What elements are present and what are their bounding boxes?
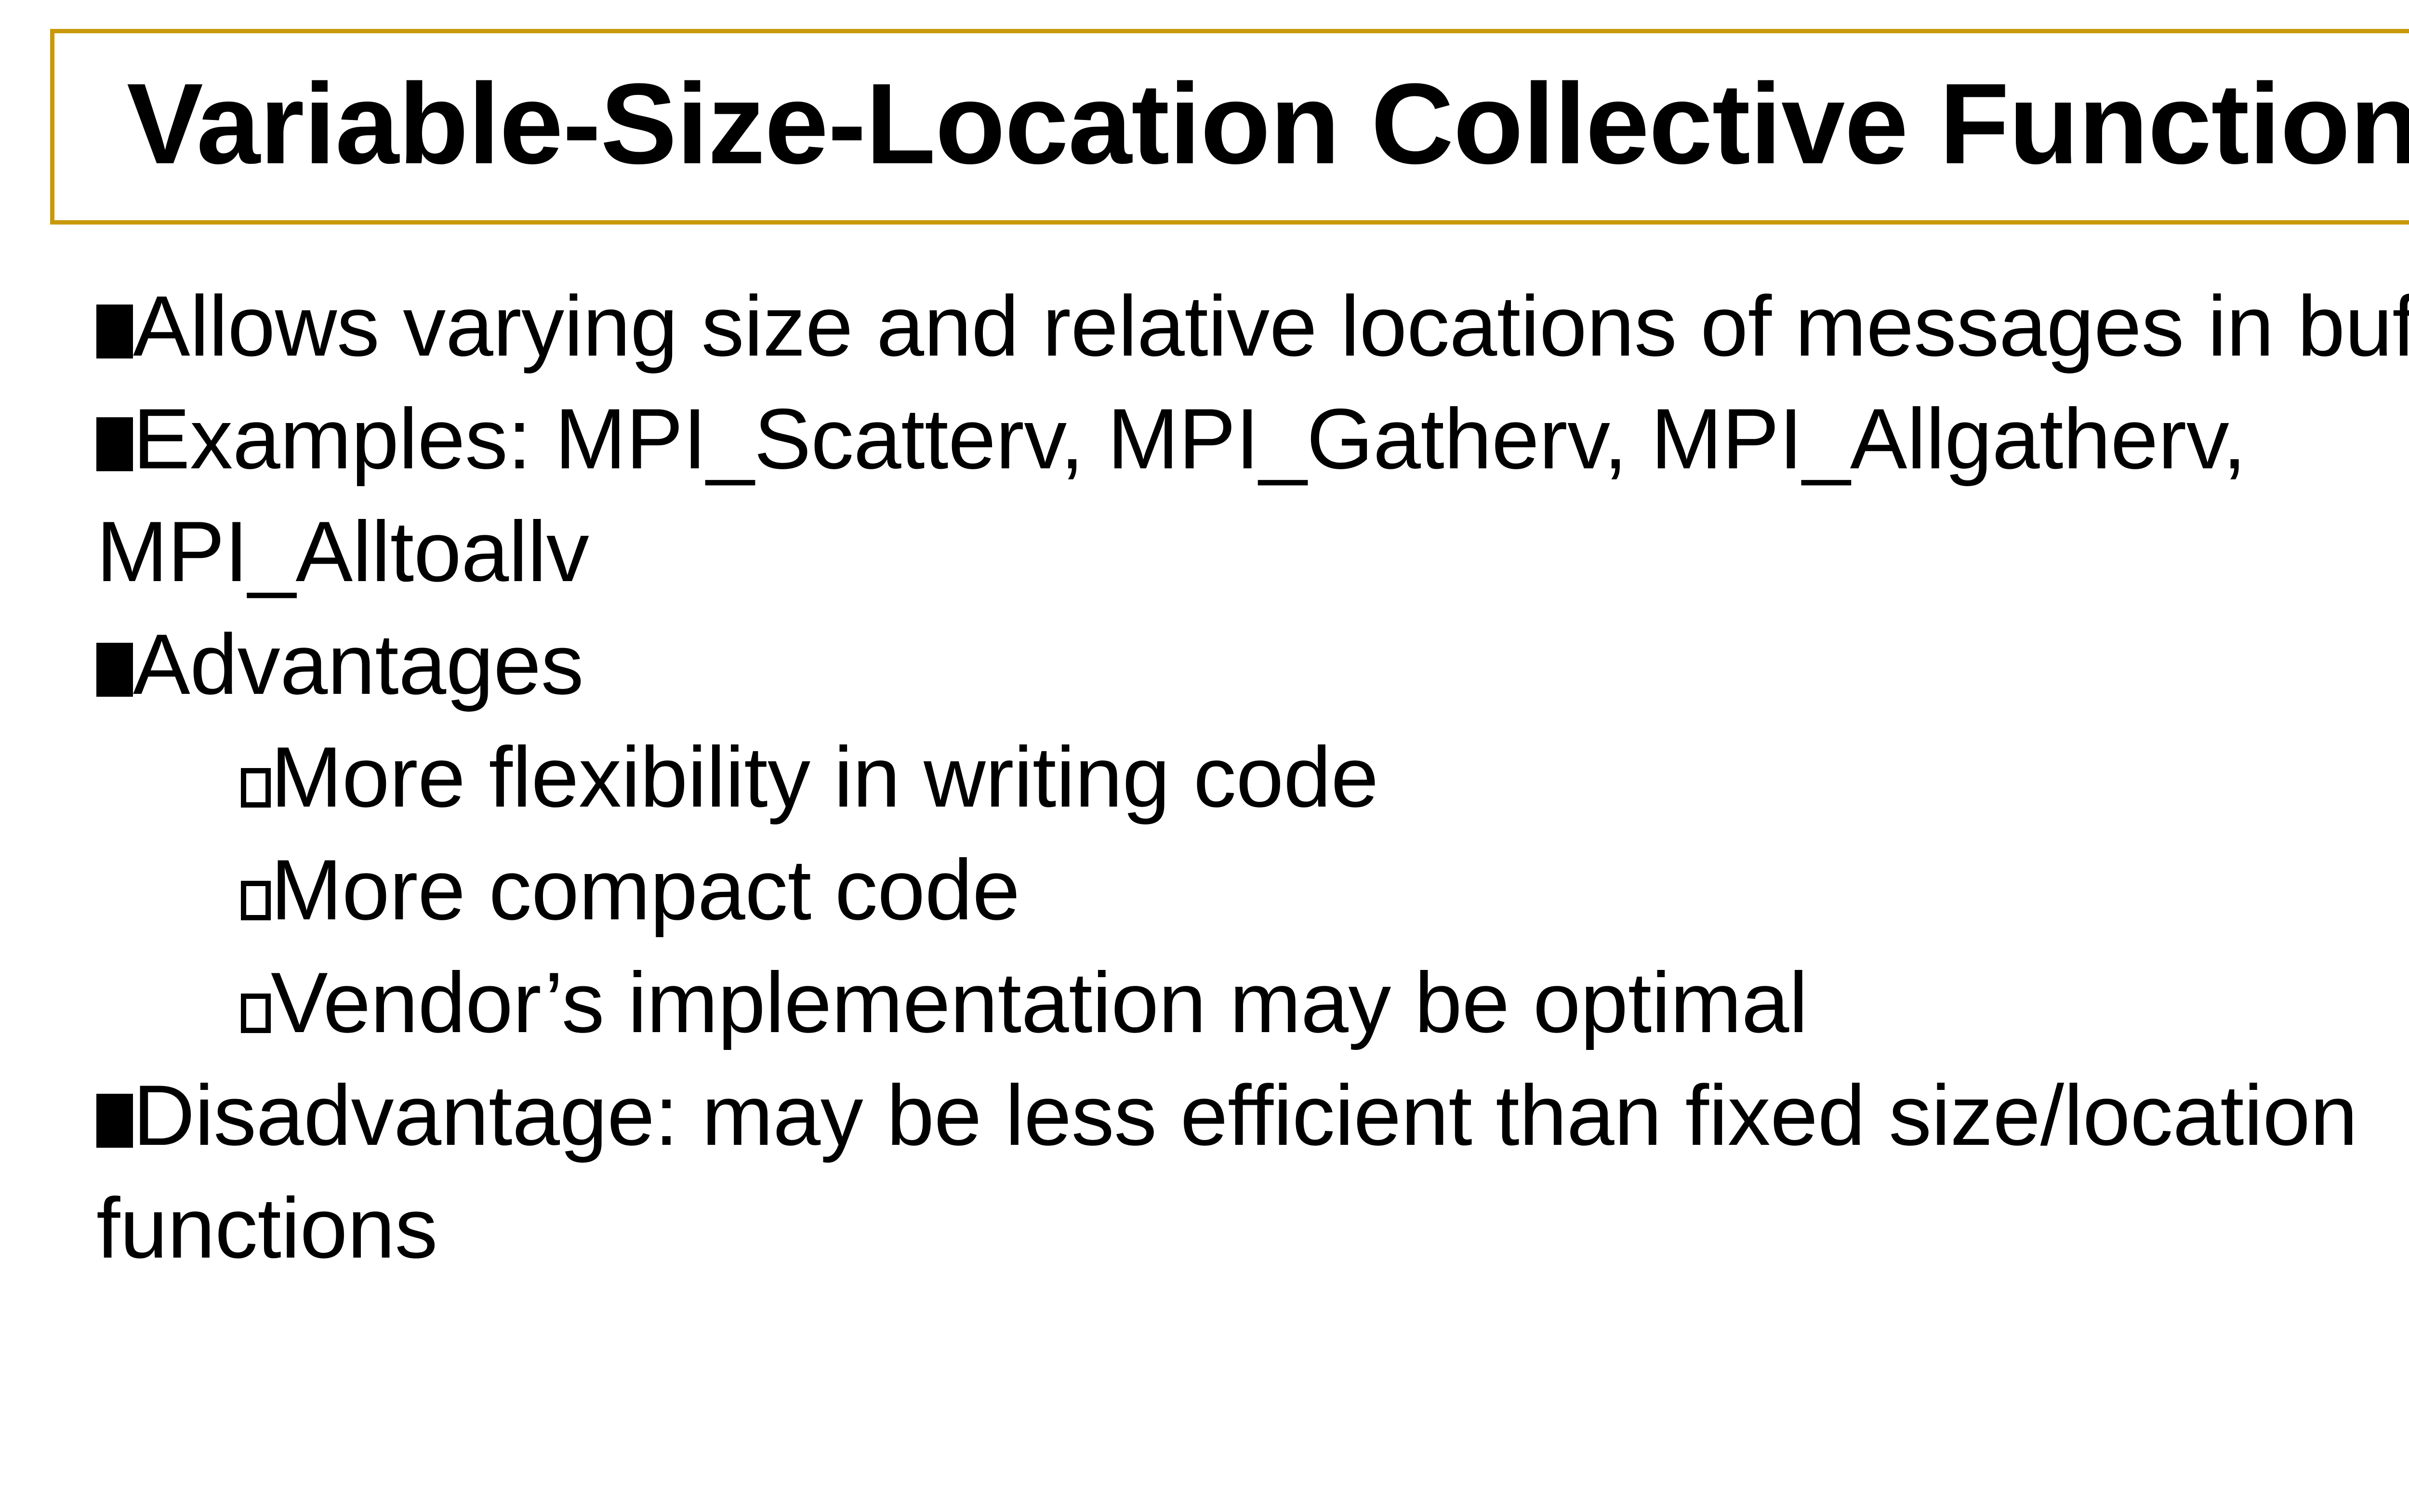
sub-bullet-text: Vendor’s implementation may be optimal	[271, 955, 1808, 1050]
bullet-text: Allows varying size and relative locatio…	[133, 278, 2409, 374]
hollow-square-bullet-icon	[241, 768, 271, 808]
filled-square-bullet-icon	[96, 643, 133, 697]
bullet-text: Disadvantage: may be less efficient than…	[96, 1067, 2381, 1276]
bullet-item: Allows varying size and relative locatio…	[0, 270, 2409, 383]
sub-bullet-text: More flexibility in writing code	[271, 729, 1378, 825]
slide-canvas: Variable-Size-Location Collective Functi…	[0, 0, 2409, 1512]
filled-square-bullet-icon	[96, 305, 133, 358]
filled-square-bullet-icon	[96, 1094, 133, 1148]
filled-square-bullet-icon	[96, 417, 133, 471]
bullet-text: Examples: MPI_Scatterv, MPI_Gatherv, MPI…	[96, 391, 2270, 599]
hollow-square-bullet-icon	[241, 881, 271, 920]
slide-body: Allows varying size and relative locatio…	[0, 270, 2409, 1285]
bullet-text: Advantages	[133, 616, 583, 712]
bullet-item: Examples: MPI_Scatterv, MPI_Gatherv, MPI…	[0, 383, 2409, 608]
sub-bullet-text: More compact code	[271, 842, 1020, 938]
sub-bullet-item: Vendor’s implementation may be optimal	[0, 946, 2409, 1059]
hollow-square-bullet-icon	[241, 994, 271, 1033]
bullet-item: Advantages	[0, 608, 2409, 721]
bullet-item: Disadvantage: may be less efficient than…	[0, 1059, 2409, 1285]
sub-bullet-item: More compact code	[0, 834, 2409, 946]
slide-title-box: Variable-Size-Location Collective Functi…	[50, 29, 2409, 225]
page-title: Variable-Size-Location Collective Functi…	[127, 66, 2409, 183]
sub-bullet-item: More flexibility in writing code	[0, 721, 2409, 834]
